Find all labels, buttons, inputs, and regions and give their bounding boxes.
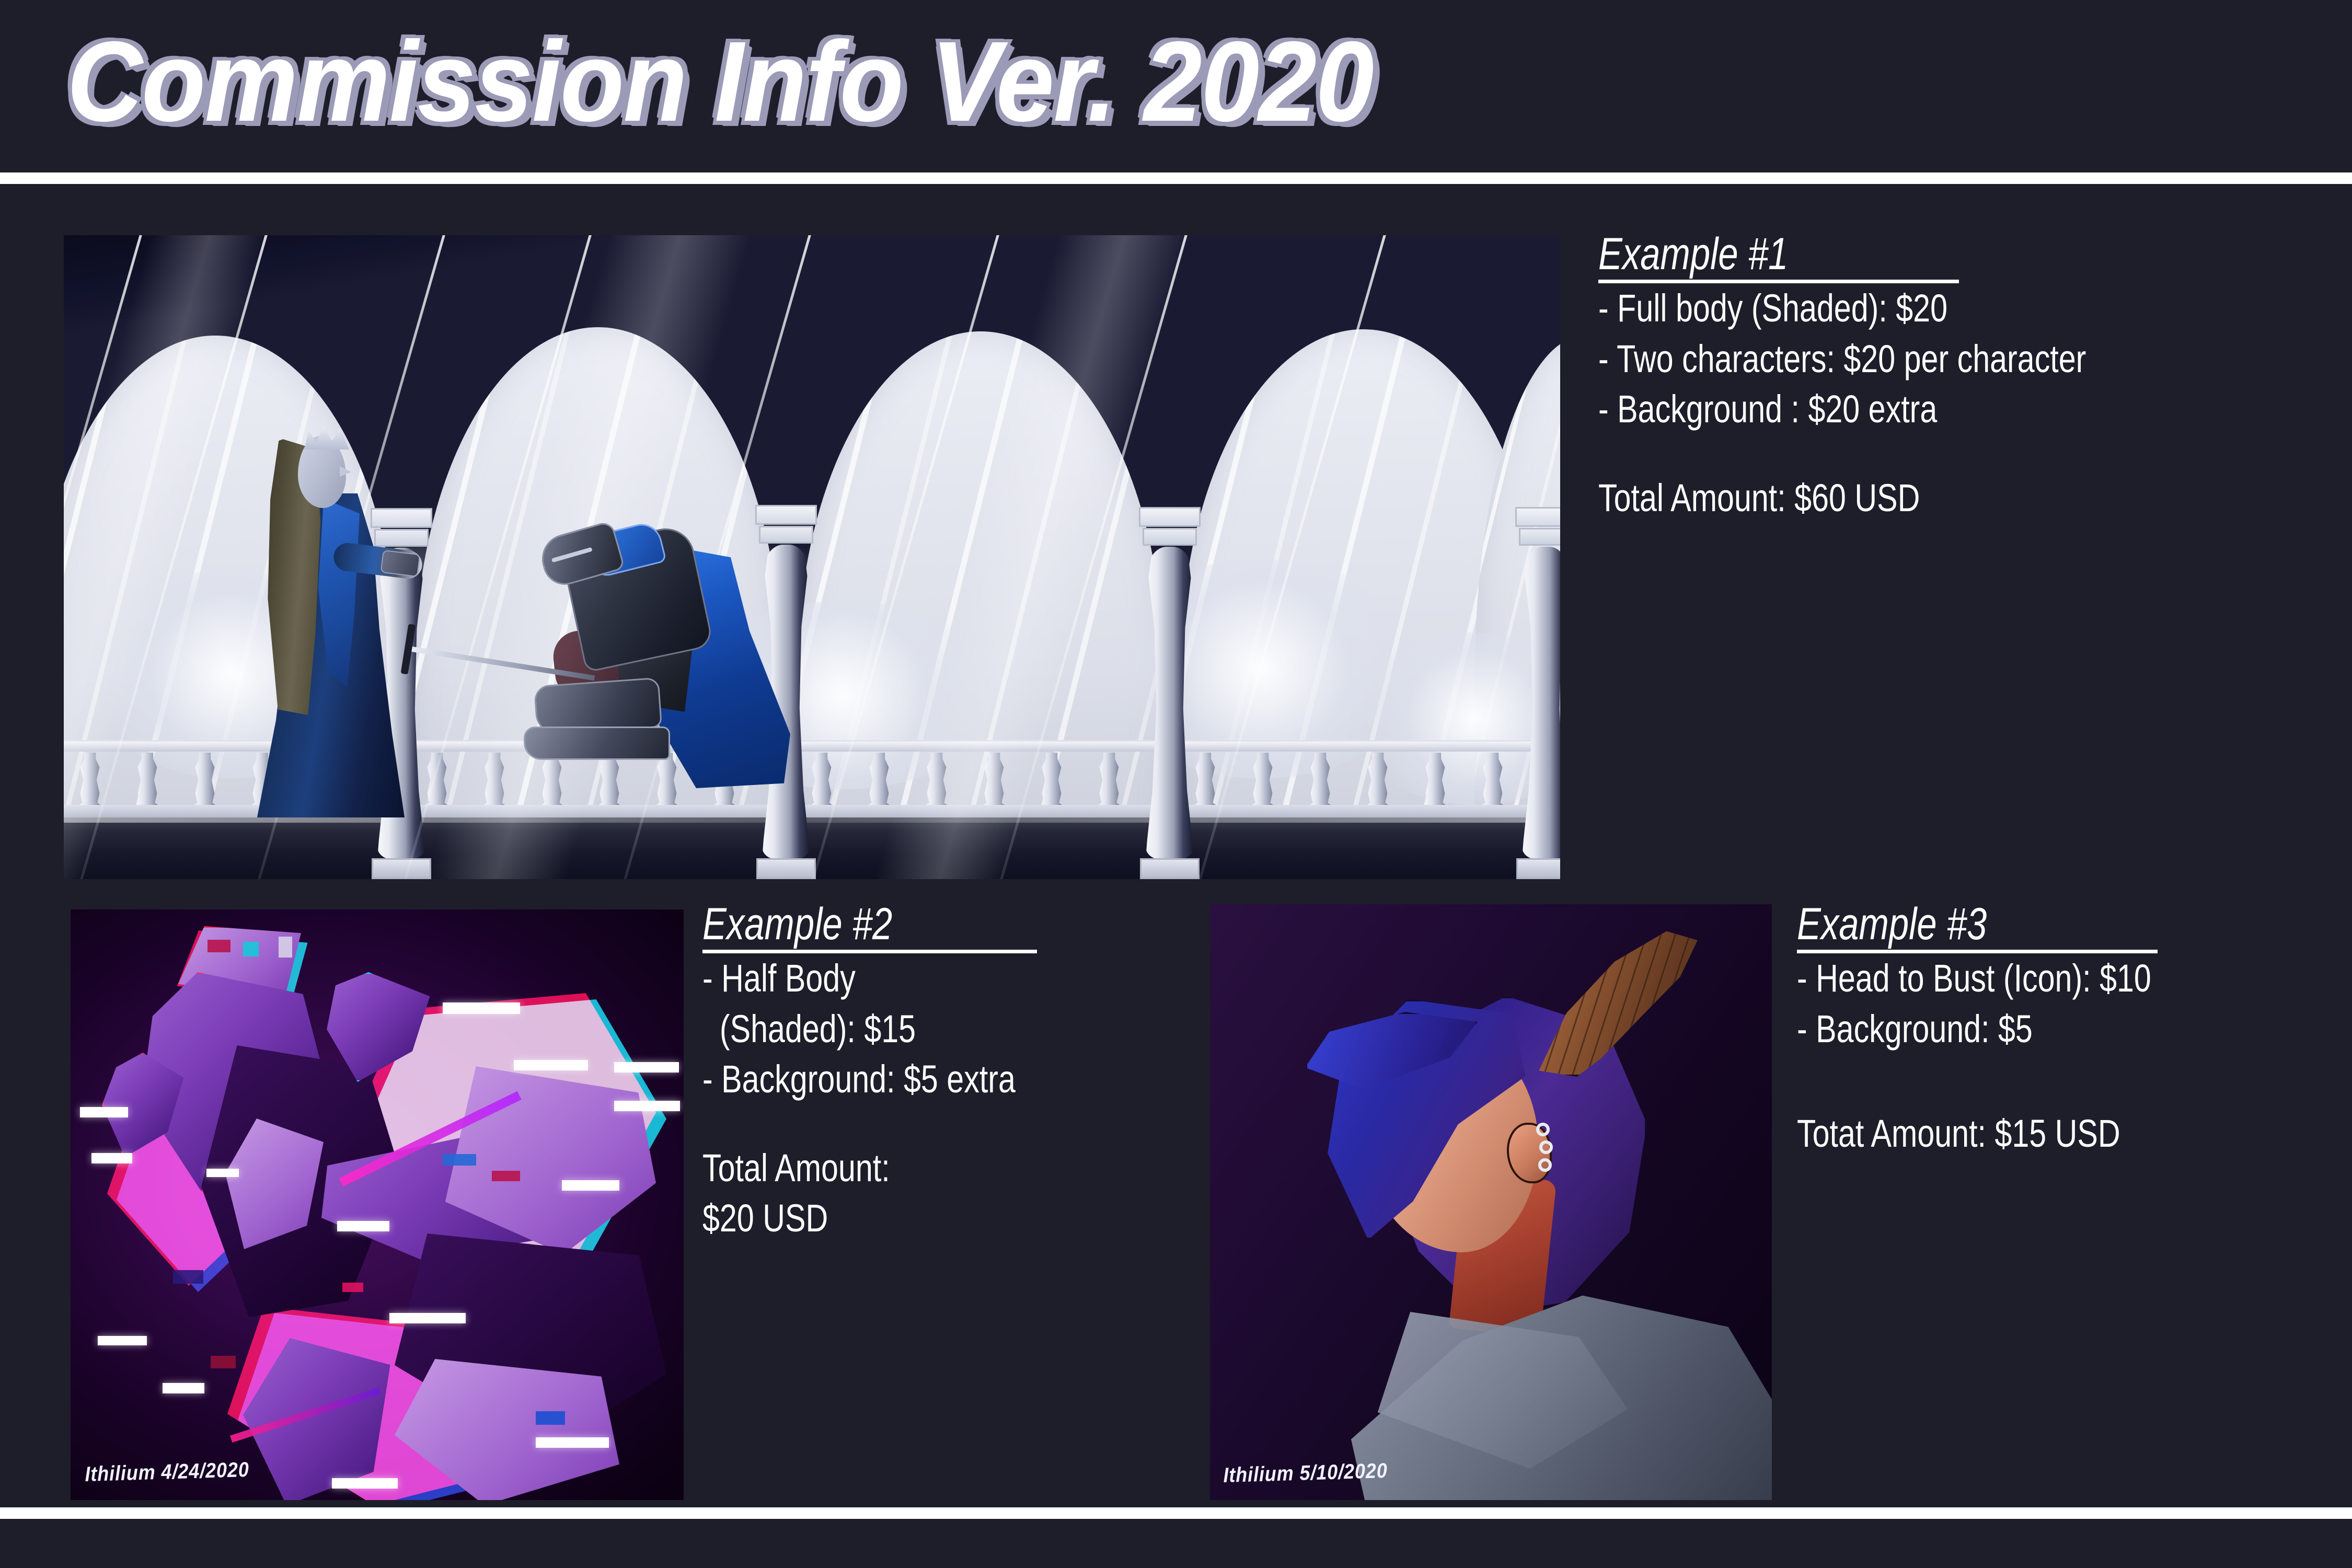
glitch-chip-3 xyxy=(279,937,292,958)
artwork-example-1 xyxy=(64,235,1560,879)
example-3-text-block: Example #3 - Head to Bust (Icon): $10 - … xyxy=(1797,901,2240,1159)
example-3-spacer xyxy=(1797,1054,2240,1093)
divider-top xyxy=(0,172,2352,184)
example-1-line-2: - Two characters: $20 per character xyxy=(1598,334,2086,384)
royal-gauntlet xyxy=(381,550,421,577)
example-2-line-2: (Shaded): $15 xyxy=(702,1004,1016,1054)
glitch-bar-11 xyxy=(163,1383,204,1393)
example-1-line-1: - Full body (Shaded): $20 xyxy=(1598,283,2086,333)
example-2-spacer xyxy=(702,1104,1094,1143)
example-3-heading: Example #3 xyxy=(1797,901,2151,948)
glitch-bar-9 xyxy=(389,1313,466,1323)
artwork-3-signature: Ithilium 5/10/2020 xyxy=(1223,1459,1388,1488)
example-2-underline xyxy=(702,950,1037,953)
example-1-total: Total Amount: $60 USD xyxy=(1598,473,2086,523)
glitch-bar-14 xyxy=(206,1169,239,1177)
example-2-text-block: Example #2 - Half Body (Shaded): $15 - B… xyxy=(702,901,1094,1243)
glitch-chip-7 xyxy=(211,1356,236,1368)
glitch-bar-5 xyxy=(80,1107,128,1117)
glitch-chip-6 xyxy=(173,1270,203,1284)
example-3-underline xyxy=(1797,950,2158,953)
artwork-2-signature: Ithilium 4/24/2020 xyxy=(85,1458,249,1486)
example-1-text-block: Example #1 - Full body (Shaded): $20 - T… xyxy=(1598,231,2208,523)
glitch-bar-1 xyxy=(443,1002,520,1014)
glitch-bar-10 xyxy=(98,1336,147,1345)
glitch-chip-1 xyxy=(207,940,230,952)
title-bar: Commission Info Ver. 2020 xyxy=(0,0,2352,172)
ear-piercing-2 xyxy=(1539,1140,1553,1154)
example-2-total-label: Total Amount: xyxy=(702,1143,1016,1193)
glitch-chip-5 xyxy=(492,1171,520,1181)
example-2-line-1: - Half Body xyxy=(702,953,1016,1004)
glitch-bar-6 xyxy=(91,1153,132,1163)
artwork-example-3: Ithilium 5/10/2020 xyxy=(1210,904,1772,1500)
example-1-heading: Example #1 xyxy=(1598,231,2086,278)
column-3 xyxy=(1146,507,1194,879)
knight-boot xyxy=(524,727,670,760)
example-1-underline xyxy=(1598,280,1959,283)
example-1-spacer xyxy=(1598,434,2208,473)
glitch-chip-2 xyxy=(243,942,259,956)
glitch-bar-13 xyxy=(332,1478,398,1489)
example-2-line-3: - Background: $5 extra xyxy=(702,1054,1016,1104)
page-title: Commission Info Ver. 2020 xyxy=(67,25,1373,139)
divider-bottom xyxy=(0,1507,2352,1519)
glitch-bar-2 xyxy=(514,1060,588,1070)
glitch-bar-3 xyxy=(614,1062,679,1073)
example-2-heading: Example #2 xyxy=(702,901,1016,948)
glitch-chip-4 xyxy=(443,1154,476,1166)
glitch-chip-9 xyxy=(342,1283,363,1292)
glitch-chip-8 xyxy=(536,1411,565,1425)
artwork-example-2: Ithilium 4/24/2020 xyxy=(71,909,684,1500)
glitch-bar-8 xyxy=(337,1221,389,1231)
royal-crown xyxy=(304,424,349,449)
glitch-bar-7 xyxy=(562,1180,619,1191)
glitch-bar-12 xyxy=(536,1437,609,1448)
example-1-line-3: - Background : $20 extra xyxy=(1598,384,2086,434)
royal-figure xyxy=(248,399,420,817)
example-3-spacer-2 xyxy=(1797,1093,2240,1109)
example-3-line-1: - Head to Bust (Icon): $10 xyxy=(1797,953,2151,1004)
column-4 xyxy=(1522,507,1560,879)
ear-piercing-3 xyxy=(1538,1158,1552,1172)
example-3-line-2: - Background: $5 xyxy=(1797,1004,2151,1054)
example-2-total-amount: $20 USD xyxy=(702,1193,1016,1243)
example-3-total: Totat Amount: $15 USD xyxy=(1797,1109,2151,1159)
ear-piercing-1 xyxy=(1536,1123,1550,1136)
glitch-bar-4 xyxy=(614,1101,680,1111)
